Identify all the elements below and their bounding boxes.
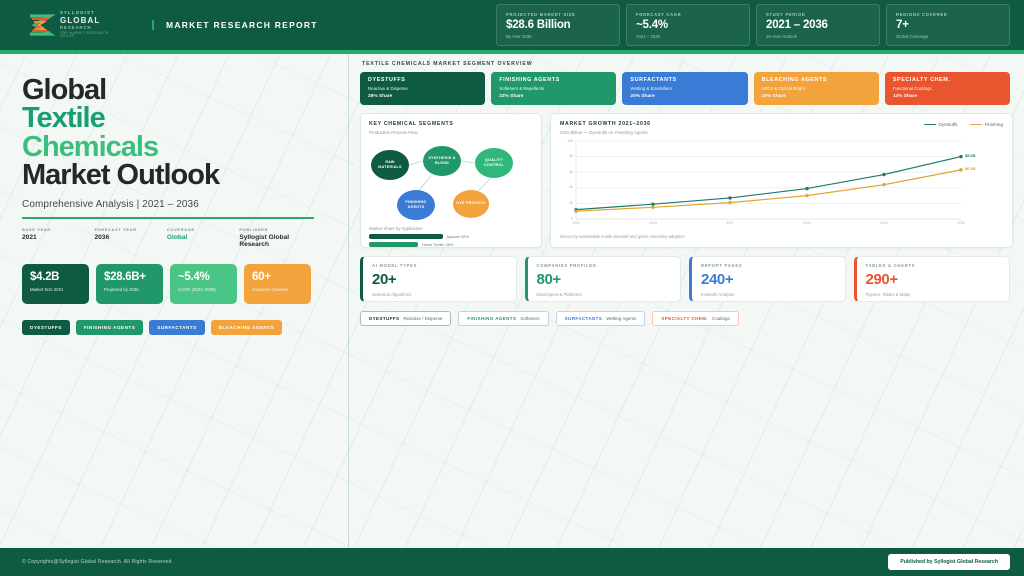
report-title: MARKET RESEARCH REPORT xyxy=(152,20,318,30)
metric-card-label: AI MODEL TYPES xyxy=(372,263,507,268)
hero-panel: Global Textile Chemicals Market Outlook … xyxy=(0,54,348,548)
legend-swatch xyxy=(924,124,936,126)
tag-chip-text: Wetting Agents xyxy=(606,316,636,321)
segment-title: BLEACHING AGENTS xyxy=(762,77,871,83)
hero-pill[interactable]: DYESTUFFS xyxy=(22,320,70,335)
market-share-title: Market Share by Application xyxy=(369,226,533,231)
section-label: TEXTILE CHEMICALS MARKET SEGMENT OVERVIE… xyxy=(362,61,1010,67)
segment-card[interactable]: DYESTUFFSReactive & Disperse28% Share xyxy=(360,72,485,105)
metric-card-label: TABLES & CHARTS xyxy=(866,263,1001,268)
metric-card-sub: Detection Algorithms xyxy=(372,292,507,297)
chart-x-tick: 2027 xyxy=(726,221,734,225)
metric-card[interactable]: TABLES & CHARTS290+Figures, Tables & Map… xyxy=(854,256,1011,302)
kpi-sub: By Year 2036 xyxy=(506,34,610,39)
segments-panel-title: KEY CHEMICAL SEGMENTS xyxy=(369,121,533,127)
segment-title: FINISHING AGENTS xyxy=(499,77,608,83)
tag-chip[interactable]: SURFACTANTSWetting Agents xyxy=(556,311,646,326)
segment-subtitle: Functional Coatings xyxy=(893,86,1002,91)
tag-chip-text: Reactive / Disperse xyxy=(403,316,442,321)
kpi-label: PROJECTED MARKET SIZE xyxy=(506,12,610,17)
kpi-value: 2021 – 2036 xyxy=(766,19,870,31)
header-kpi-row: PROJECTED MARKET SIZE$28.6 BillionBy Yea… xyxy=(496,4,1010,46)
s-monogram-icon xyxy=(26,12,56,38)
chart-x-tick: 2024 xyxy=(649,221,657,225)
hero-pill[interactable]: FINISHING AGENTS xyxy=(76,320,143,335)
segment-subtitle: Wetting & Emulsifiers xyxy=(630,86,739,91)
legend-label: Finishing xyxy=(985,122,1003,127)
market-share-bar xyxy=(369,234,443,239)
segments-panel-subtitle: Production Process Flow xyxy=(369,130,533,135)
tag-chip-bold: FINISHING AGENTS xyxy=(467,316,516,321)
hero-stat-sub: Countries Covered xyxy=(252,287,304,292)
chart-x-tick: 2030 xyxy=(803,221,811,225)
market-share-bar-row: Home Textile 28% xyxy=(369,242,533,247)
hero-divider xyxy=(22,217,314,219)
hero-meta-item: PUBLISHERSyllogist Global Research xyxy=(239,227,306,249)
hero-stat-value: 60+ xyxy=(252,271,304,283)
segment-share: 20% Share xyxy=(630,94,739,99)
hero-title-line-2: Textile xyxy=(22,104,326,132)
hero-stat-card: 60+Countries Covered xyxy=(244,264,311,304)
tag-chip-text: Softeners xyxy=(520,316,539,321)
kpi-value: $28.6 Billion xyxy=(506,19,610,31)
flow-node-raw-materials[interactable]: RAW MATERIALS xyxy=(371,150,409,180)
metric-card-label: REPORT PAGES xyxy=(701,263,836,268)
main-panel: TEXTILE CHEMICALS MARKET SEGMENT OVERVIE… xyxy=(352,54,1024,548)
footer-bar: © Copyrights@Syllogist Global Research. … xyxy=(0,548,1024,576)
metric-card[interactable]: AI MODEL TYPES20+Detection Algorithms xyxy=(360,256,517,302)
flow-node-dye-process[interactable]: DYE PROCESS xyxy=(453,190,489,218)
metric-card[interactable]: REPORT PAGES240+In-Depth Analysis xyxy=(689,256,846,302)
hero-meta-label: COVERAGE xyxy=(167,227,219,232)
hero-title-line-4: Market Outlook xyxy=(22,161,326,189)
hero-title-line-1: Global xyxy=(22,76,326,104)
hero-pill-row: DYESTUFFSFINISHING AGENTSSURFACTANTSBLEA… xyxy=(22,320,326,335)
key-chemical-segments-panel: KEY CHEMICAL SEGMENTS Production Process… xyxy=(360,113,542,248)
hero-meta-value: Global xyxy=(167,234,219,241)
chart-x-tick: 2036 xyxy=(957,221,965,225)
kpi-label: STUDY PERIOD xyxy=(766,12,870,17)
metric-card-sub: Figures, Tables & Maps xyxy=(866,292,1001,297)
chart-x-tick: 2021 xyxy=(572,221,580,225)
tag-chip-text: Coatings xyxy=(712,316,730,321)
segment-subtitle: Reactive & Disperse xyxy=(368,86,477,91)
kpi-value: ~5.4% xyxy=(636,19,740,31)
hero-stat-sub: Market Size 2021 xyxy=(30,287,82,292)
hero-meta-label: FORECAST YEAR xyxy=(94,227,146,232)
market-share-bar-row: Apparel 42% xyxy=(369,234,533,239)
tag-chip-bold: DYESTUFFS xyxy=(369,316,399,321)
panel-row: KEY CHEMICAL SEGMENTS Production Process… xyxy=(360,113,1010,248)
kpi-value: 7+ xyxy=(896,19,1000,31)
header-kpi-card: FORECAST CAGR~5.4%2021 – 2036 xyxy=(626,4,750,46)
footer-copyright: © Copyrights@Syllogist Global Research. … xyxy=(22,559,173,565)
chart-title: MARKET GROWTH 2021–2036 xyxy=(560,121,651,127)
segment-title: SPECIALTY CHEM. xyxy=(893,77,1002,83)
metric-card-value: 240+ xyxy=(701,271,836,288)
chart-subtitle: USD Billion — Dyestuffs vs. Finishing Ag… xyxy=(560,130,651,135)
logo-line-2: GLOBAL xyxy=(60,17,122,25)
kpi-sub: Global Coverage xyxy=(896,34,1000,39)
market-growth-chart-panel: MARKET GROWTH 2021–2036 USD Billion — Dy… xyxy=(550,113,1013,248)
header-kpi-card: REGIONS COVERED7+Global Coverage xyxy=(886,4,1010,46)
panel-divider xyxy=(348,54,349,548)
hero-title-line-3: Chemicals xyxy=(22,133,326,161)
hero-stat-value: $4.2B xyxy=(30,271,82,283)
metric-card-sub: Developers & Platforms xyxy=(537,292,672,297)
market-share-bar xyxy=(369,242,418,247)
hero-meta-row: BASE YEAR2021FORECAST YEAR2036COVERAGEGl… xyxy=(22,227,326,249)
hero-stat-card: $4.2BMarket Size 2021 xyxy=(22,264,89,304)
legend-item[interactable]: Finishing xyxy=(970,122,1003,127)
hero-stat-card: ~5.4%CAGR (2021–2036) xyxy=(170,264,237,304)
chart-note: Driven by sustainable textile demand and… xyxy=(560,234,1003,239)
tag-chip[interactable]: SPECIALTY CHEM.Coatings xyxy=(652,311,738,326)
flow-node-quality-control[interactable]: QUALITY CONTROL xyxy=(475,148,513,178)
kpi-label: REGIONS COVERED xyxy=(896,12,1000,17)
logo-line-3: RESEARCH xyxy=(60,26,122,30)
segment-share: 14% Share xyxy=(893,94,1002,99)
brand-logo[interactable]: SYLLOGIST GLOBAL RESEARCH TOP MARKET RES… xyxy=(26,11,122,38)
footer-publisher-badge[interactable]: Published by Syllogist Global Research xyxy=(888,554,1010,570)
metric-card-label: COMPANIES PROFILED xyxy=(537,263,672,268)
legend-swatch xyxy=(970,124,982,126)
metric-card-value: 290+ xyxy=(866,271,1001,288)
kpi-label: FORECAST CAGR xyxy=(636,12,740,17)
hero-meta-item: BASE YEAR2021 xyxy=(22,227,74,249)
chart-end-label: $6.3B xyxy=(965,166,975,171)
legend-item[interactable]: Dyestuffs xyxy=(924,122,958,127)
metric-card-value: 20+ xyxy=(372,271,507,288)
segment-share: 22% Share xyxy=(499,94,608,99)
kpi-sub: 15-Year Outlook xyxy=(766,34,870,39)
chart-legend: DyestuffsFinishing xyxy=(924,121,1003,127)
kpi-sub: 2021 – 2036 xyxy=(636,34,740,39)
metric-card[interactable]: COMPANIES PROFILED80+Developers & Platfo… xyxy=(525,256,682,302)
hero-stat-sub: CAGR (2021–2036) xyxy=(178,287,230,292)
header-kpi-card: PROJECTED MARKET SIZE$28.6 BillionBy Yea… xyxy=(496,4,620,46)
flow-node-synthesis-blend[interactable]: SYNTHESIS & BLEND xyxy=(423,146,461,176)
hero-stat-row: $4.2BMarket Size 2021$28.6B+Projected by… xyxy=(22,264,326,304)
segment-subtitle: Softeners & Repellents xyxy=(499,86,608,91)
segment-card[interactable]: SPECIALTY CHEM.Functional Coatings14% Sh… xyxy=(885,72,1010,105)
tag-chip-row: DYESTUFFSReactive / DisperseFINISHING AG… xyxy=(360,311,1010,326)
metric-card-sub: In-Depth Analysis xyxy=(701,292,836,297)
hero-stat-sub: Projected by 2036 xyxy=(104,287,156,292)
segment-share: 16% Share xyxy=(762,94,871,99)
segment-card-row: DYESTUFFSReactive & Disperse28% ShareFIN… xyxy=(360,72,1010,105)
top-header-bar: SYLLOGIST GLOBAL RESEARCH TOP MARKET RES… xyxy=(0,0,1024,50)
chart-plot-area: 02b4b6b8b10b$8.0B$6.3B202120242027203020… xyxy=(560,139,1003,232)
market-share-bars: Apparel 42%Home Textile 28% xyxy=(369,234,533,247)
tag-chip[interactable]: FINISHING AGENTSSofteners xyxy=(458,311,548,326)
tag-chip-bold: SPECIALTY CHEM. xyxy=(661,316,708,321)
metric-card-value: 80+ xyxy=(537,271,672,288)
hero-meta-label: PUBLISHER xyxy=(239,227,306,232)
chart-svg xyxy=(560,139,1003,232)
logo-tagline: TOP MARKET RESEARCH GROUP xyxy=(60,32,122,38)
hero-meta-value: 2036 xyxy=(94,234,146,241)
segment-card[interactable]: SURFACTANTSWetting & Emulsifiers20% Shar… xyxy=(622,72,747,105)
hero-meta-item: COVERAGEGlobal xyxy=(167,227,219,249)
market-share-bar-label: Home Textile 28% xyxy=(422,242,453,247)
segment-card[interactable]: BLEACHING AGENTSH2O2 & Optical Bright16%… xyxy=(754,72,879,105)
chart-x-tick: 2033 xyxy=(880,221,888,225)
segment-title: DYESTUFFS xyxy=(368,77,477,83)
header-kpi-card: STUDY PERIOD2021 – 203615-Year Outlook xyxy=(756,4,880,46)
hero-meta-value: Syllogist Global Research xyxy=(239,234,306,248)
segment-card[interactable]: FINISHING AGENTSSofteners & Repellents22… xyxy=(491,72,616,105)
segment-subtitle: H2O2 & Optical Bright xyxy=(762,86,871,91)
segment-share: 28% Share xyxy=(368,94,477,99)
hero-subtitle: Comprehensive Analysis | 2021 – 2036 xyxy=(22,199,326,210)
market-share-bar-label: Apparel 42% xyxy=(447,234,469,239)
flow-node-finishing-agents[interactable]: FINISHING AGENTS xyxy=(397,190,435,220)
hero-stat-value: ~5.4% xyxy=(178,271,230,283)
chart-end-label: $8.0B xyxy=(965,153,975,158)
hero-meta-value: 2021 xyxy=(22,234,74,241)
hero-meta-label: BASE YEAR xyxy=(22,227,74,232)
hero-stat-card: $28.6B+Projected by 2036 xyxy=(96,264,163,304)
hero-stat-value: $28.6B+ xyxy=(104,271,156,283)
segment-title: SURFACTANTS xyxy=(630,77,739,83)
hero-meta-item: FORECAST YEAR2036 xyxy=(94,227,146,249)
hero-pill[interactable]: BLEACHING AGENTS xyxy=(211,320,283,335)
metric-card-row: AI MODEL TYPES20+Detection AlgorithmsCOM… xyxy=(360,256,1010,302)
legend-label: Dyestuffs xyxy=(939,122,958,127)
hero-pill[interactable]: SURFACTANTS xyxy=(149,320,204,335)
report-page: SYLLOGIST GLOBAL RESEARCH TOP MARKET RES… xyxy=(0,0,1024,576)
tag-chip-bold: SURFACTANTS xyxy=(565,316,603,321)
process-flow-diagram: RAW MATERIALS SYNTHESIS & BLEND QUALITY … xyxy=(369,140,535,223)
tag-chip[interactable]: DYESTUFFSReactive / Disperse xyxy=(360,311,451,326)
